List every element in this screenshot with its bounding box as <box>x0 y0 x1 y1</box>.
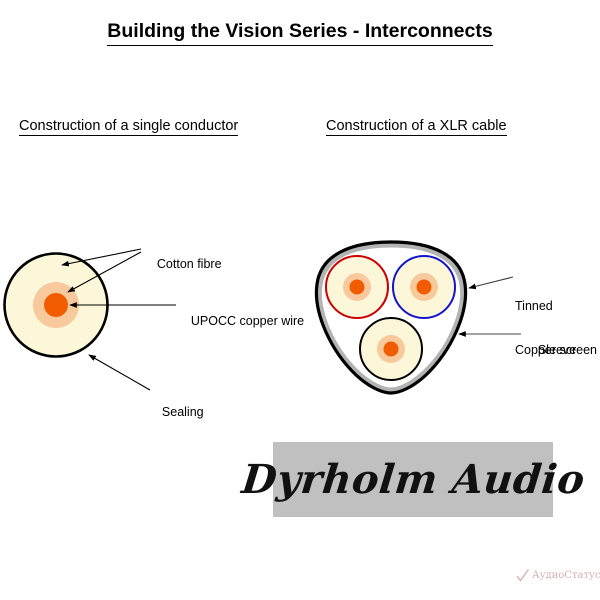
watermark: АудиоСтатус <box>516 569 600 582</box>
xlr-cable-cross-section <box>316 242 465 393</box>
leader-tinned-copper-screen <box>469 277 513 288</box>
label-sealing-text: Sealing <box>162 405 204 419</box>
conductor-black <box>360 318 422 380</box>
label-upocc-copper-wire-text: UPOCC copper wire <box>191 314 304 328</box>
brand-logo: Dyrholm Audio <box>273 442 553 517</box>
diagram-page: Building the Vision Series - Interconnec… <box>0 0 600 600</box>
conductor-red-copper-core <box>350 280 365 295</box>
brand-logo-text: Dyrholm Audio <box>239 458 586 502</box>
label-upocc-copper-wire: UPOCC copper wire <box>177 299 304 343</box>
check-icon <box>516 569 530 582</box>
conductor-blue-copper-core <box>417 280 432 295</box>
watermark-text: АудиоСтатус <box>532 570 600 581</box>
upocc-copper-core-circle <box>44 293 68 317</box>
label-sealing: Sealing <box>148 390 204 434</box>
conductor-red <box>326 256 388 318</box>
label-sleeve: Sleeve <box>524 328 576 372</box>
label-cotton-fibre: Cotton fibre <box>143 242 222 286</box>
conductor-blue <box>393 256 455 318</box>
conductor-black-copper-core <box>384 342 399 357</box>
right-leader-lines <box>459 277 521 334</box>
label-tinned-copper-screen-line1: Tinned <box>515 299 597 314</box>
label-sleeve-text: Sleeve <box>538 343 576 357</box>
leader-sealing <box>89 355 150 390</box>
label-cotton-fibre-text: Cotton fibre <box>157 257 222 271</box>
